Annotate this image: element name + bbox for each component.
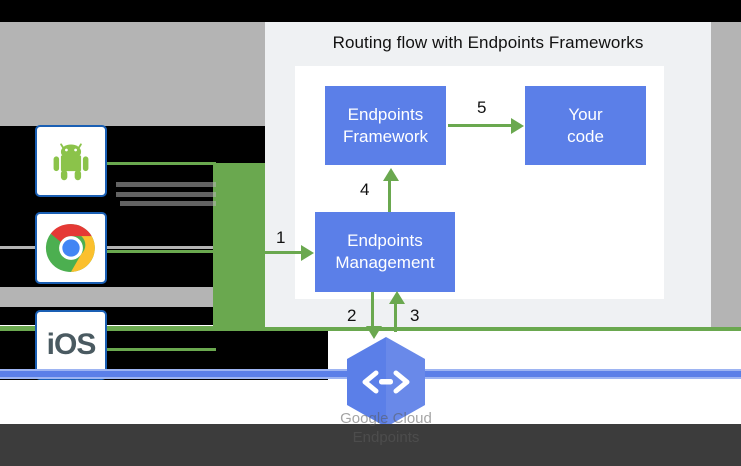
service-logo-caption: Google Cloud Endpoints [306,410,466,448]
arrow-4-head [383,168,399,181]
page-background-grey [0,22,265,126]
arrow-2-label: 2 [347,307,356,324]
arrow-1-label: 1 [276,229,285,246]
arrow-3-head [389,291,405,304]
android-icon [49,139,93,183]
node-endpoints-framework[interactable]: Endpoints Framework [325,86,446,165]
arrow-1-head [301,245,314,261]
client-tile-chrome[interactable] [35,212,107,284]
chrome-icon [45,222,97,274]
node-your-code[interactable]: Your code [525,86,646,165]
arrow-3-label: 3 [410,307,419,324]
arrow-5-label: 5 [477,99,486,116]
redaction-grey-2 [116,192,216,197]
node-endpoints-management[interactable]: Endpoints Management [315,212,455,292]
client-android-connector [106,162,216,165]
page-title: Routing flow with Endpoints Frameworks [265,33,711,53]
redaction-grey-1 [116,182,216,187]
redaction-band-top [0,0,741,22]
arrow-5-head [511,118,524,134]
node-endpoints-framework-label: Endpoints Framework [343,104,428,148]
diagram-panel-title-area: Routing flow with Endpoints Frameworks [265,33,711,57]
client-tile-ios-label: iOS [47,328,96,362]
redaction-grey-3 [120,201,216,206]
screenshot-canvas: Routing flow with Endpoints Frameworks E… [0,0,741,466]
client-ios-connector [106,348,216,351]
node-your-code-label: Your code [567,104,604,148]
arrow-5-line [448,124,513,127]
panel-right-gutter [711,22,741,327]
arrow-4-line [388,180,391,212]
client-chrome-connector [106,250,216,253]
arrow-3-line [394,302,397,332]
page-background-grey-3 [0,287,213,307]
arrow-4-label: 4 [360,181,369,198]
client-tile-android[interactable] [35,125,107,197]
arrow-2-line [371,292,374,329]
node-endpoints-management-label: Endpoints Management [335,230,434,274]
arrow-1-line [256,251,303,254]
